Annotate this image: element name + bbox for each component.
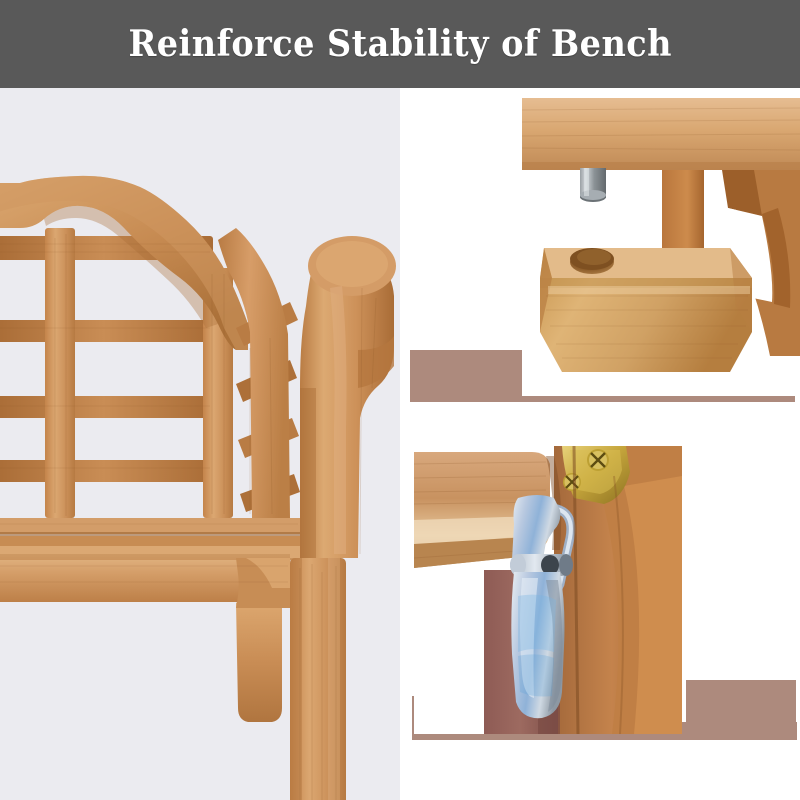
bench-illustration: [0, 88, 400, 800]
infographic-page: Reinforce Stability of Bench: [0, 0, 800, 800]
page-title: Reinforce Stability of Bench: [128, 23, 671, 65]
header-banner: Reinforce Stability of Bench: [0, 0, 800, 88]
right-column: Notch for first Fixation: [400, 88, 800, 800]
hasp-latch-photo: [414, 446, 682, 734]
metal-dowel-pin: [580, 168, 606, 202]
hasp-panel: [400, 444, 800, 744]
hero-photo-panel: [0, 88, 400, 800]
hasp-accent-strip-right: [686, 680, 796, 740]
notch-fixation-photo: [522, 96, 800, 396]
notch-panel: [400, 88, 800, 408]
